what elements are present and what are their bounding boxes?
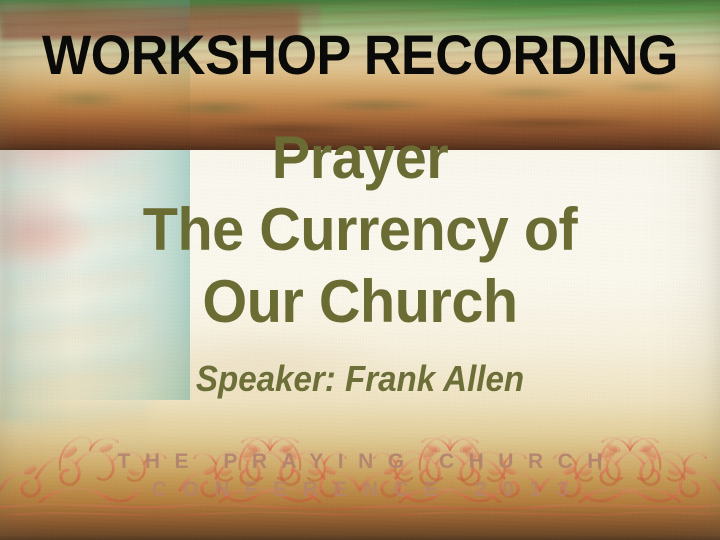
conference-branding: THE PRAYING CHURCH CONFERENCE 2013 [0,448,720,504]
presentation-slide: WORKSHOP RECORDING Prayer The Currency o… [0,0,720,540]
speaker-name: Speaker: Frank Allen [29,357,691,401]
slide-title: Prayer The Currency of Our Church [0,122,720,338]
kicker-workshop-recording: WORKSHOP RECORDING [25,24,695,86]
title-line-3: Our Church [14,266,705,338]
conference-name: THE PRAYING CHURCH [0,448,720,476]
title-line-2: The Currency of [14,194,705,266]
conference-year: CONFERENCE 2013 [0,476,720,504]
title-line-1: Prayer [14,122,705,194]
